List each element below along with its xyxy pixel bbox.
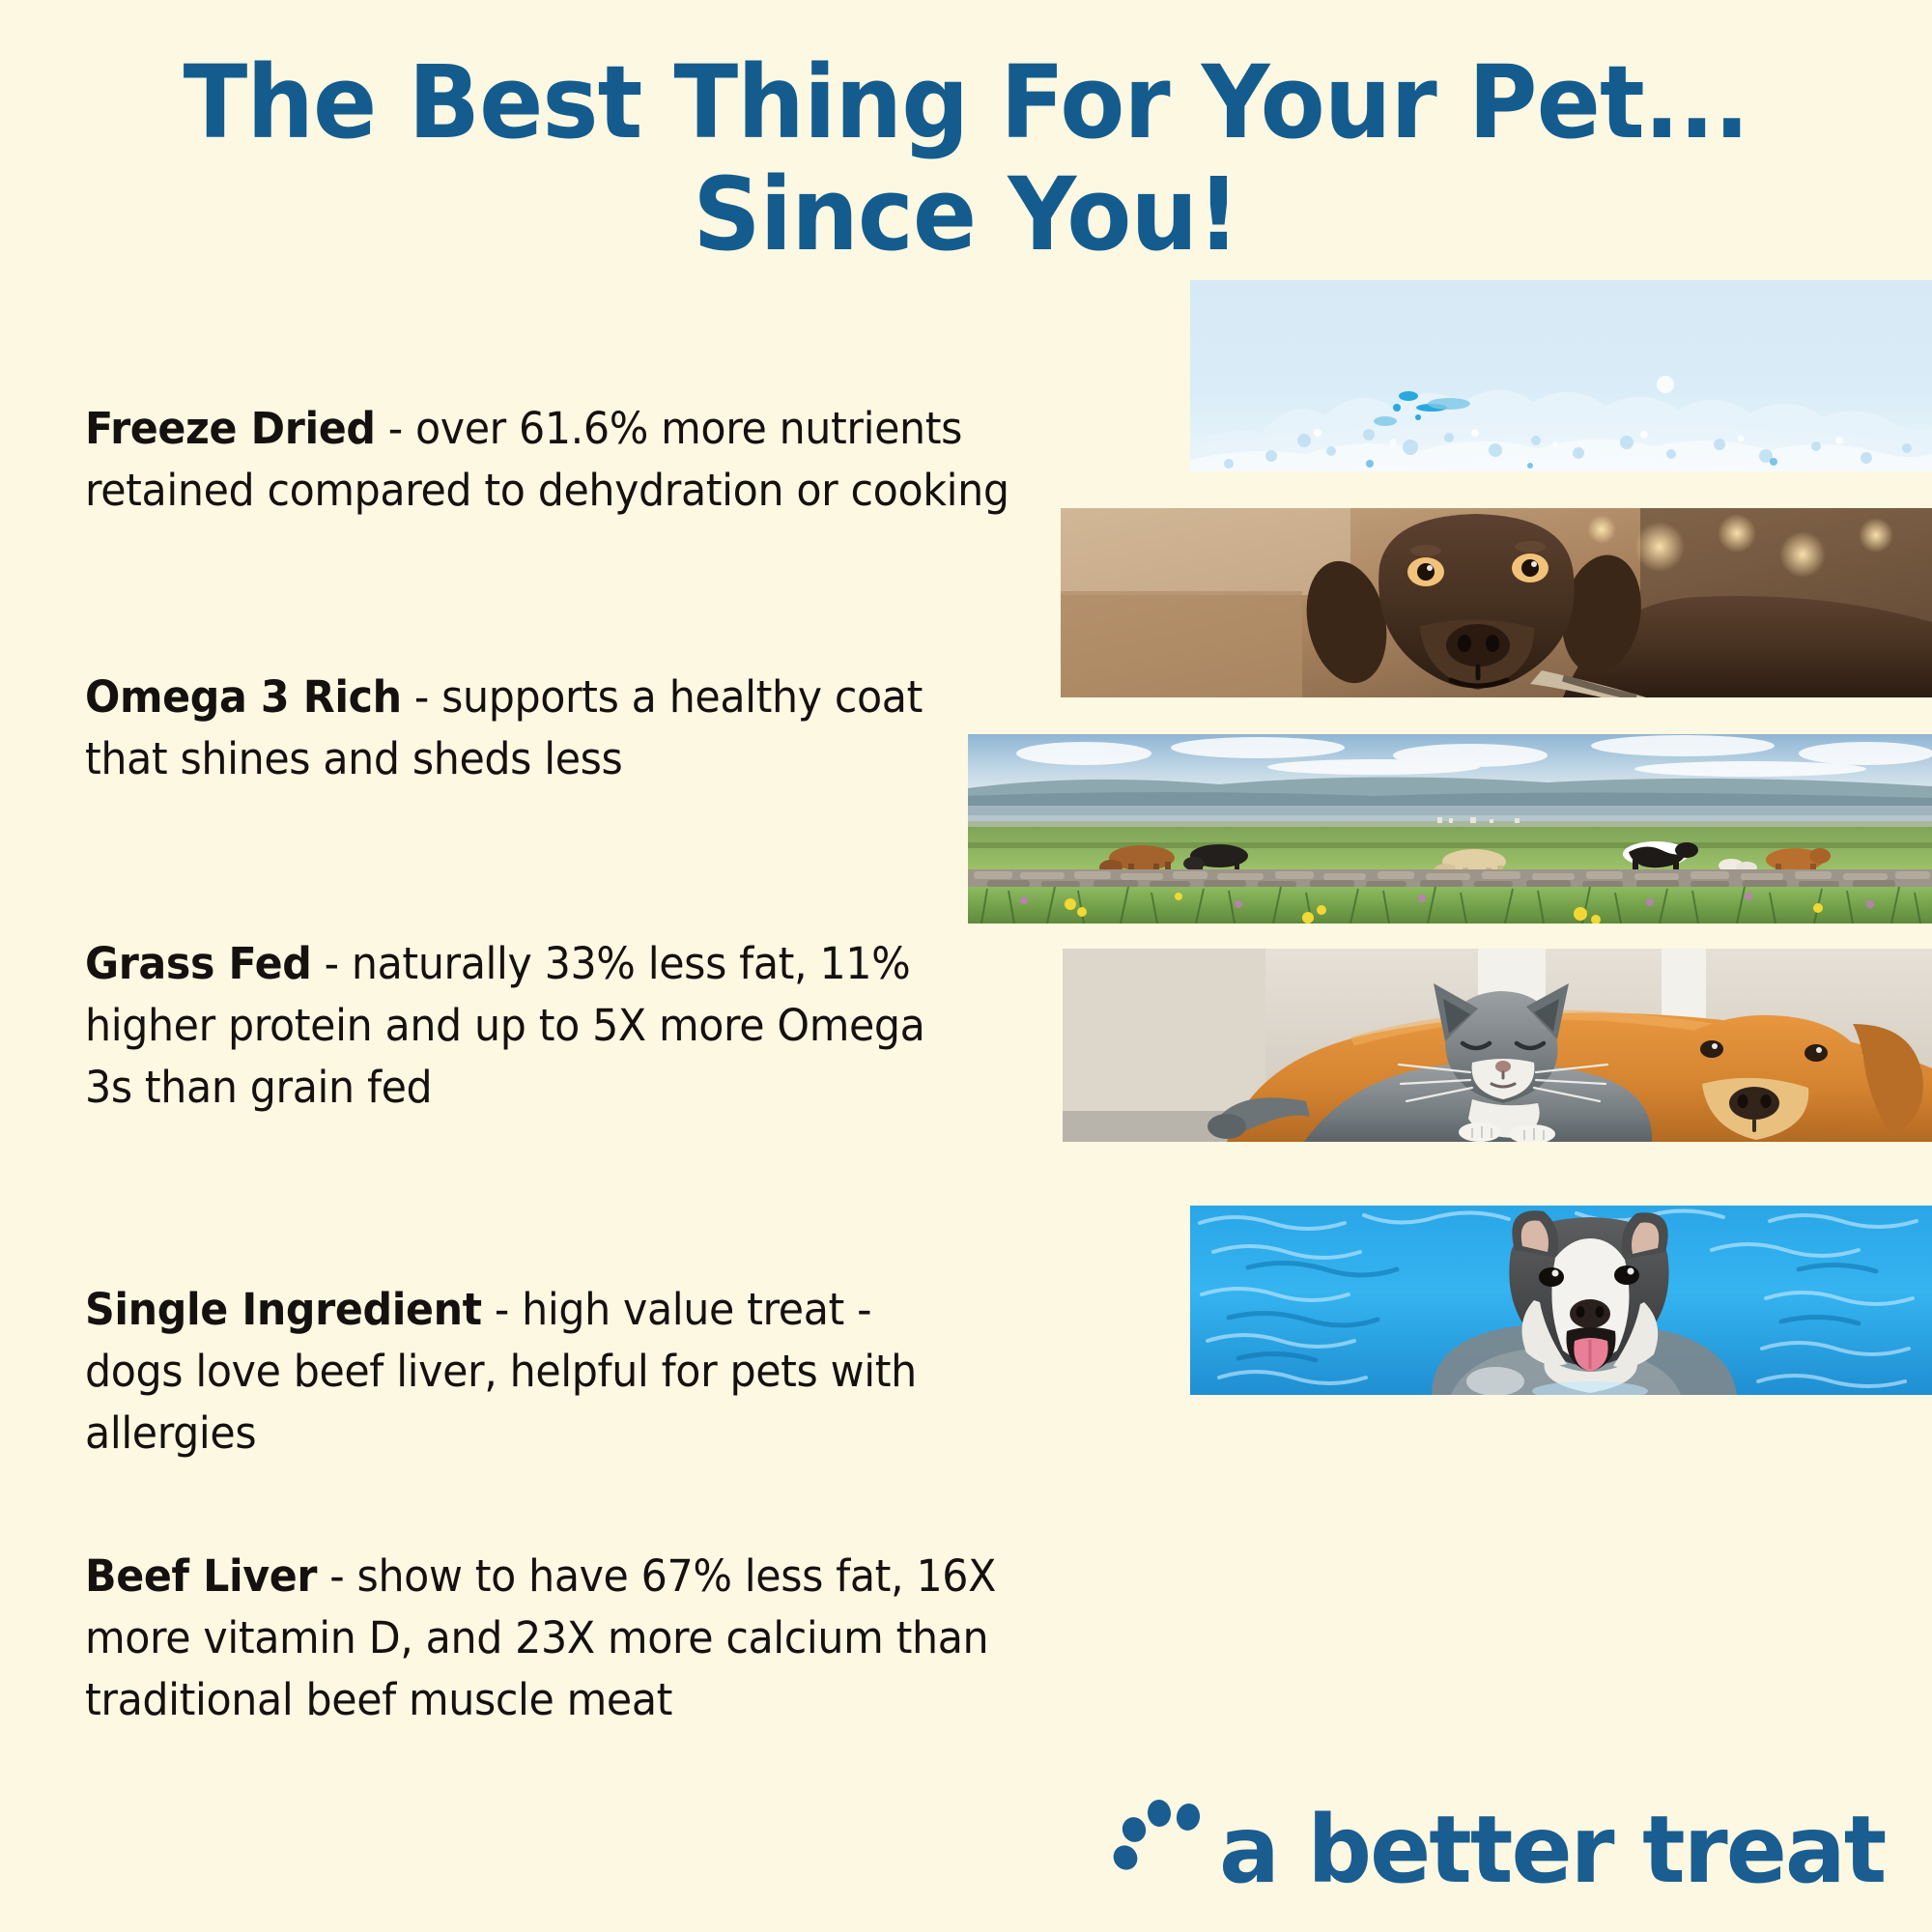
paw-print-icon [1113, 1798, 1213, 1902]
grazing-cattle-photo [968, 734, 1932, 923]
title-line-2: Since You! [58, 158, 1874, 270]
benefit-lead-beef-liver: Beef Liver [85, 1550, 317, 1602]
benefit-lead-single-ingredient: Single Ingredient [85, 1284, 482, 1335]
benefit-lead-freeze-dried: Freeze Dried [85, 403, 376, 454]
cat-and-dog-photo [1063, 949, 1932, 1142]
benefit-item-omega-3-rich: Omega 3 Rich - supports a healthy coat t… [85, 667, 984, 790]
husky-swimming-photo [1190, 1206, 1932, 1395]
brand-logo[interactable]: a better treat [1113, 1793, 1905, 1907]
benefit-item-grass-fed: Grass Fed - naturally 33% less fat, 11% … [85, 933, 929, 1119]
page-title: The Best Thing For Your Pet... Since You… [0, 46, 1932, 271]
benefit-item-single-ingredient: Single Ingredient - high value treat - d… [85, 1279, 976, 1464]
benefit-lead-grass-fed: Grass Fed [85, 938, 311, 989]
benefit-item-beef-liver: Beef Liver - show to have 67% less fat, … [85, 1546, 1058, 1731]
title-line-1: The Best Thing For Your Pet... [58, 46, 1874, 158]
benefit-lead-omega-3-rich: Omega 3 Rich [85, 671, 402, 723]
infographic-poster: The Best Thing For Your Pet... Since You… [0, 0, 1932, 1932]
ice-crystals-photo [1190, 280, 1932, 471]
logo-wordmark: a better treat [1219, 1804, 1885, 1896]
benefit-item-freeze-dried: Freeze Dried - over 61.6% more nutrients… [85, 398, 1086, 522]
chocolate-lab-photo [1061, 508, 1932, 697]
